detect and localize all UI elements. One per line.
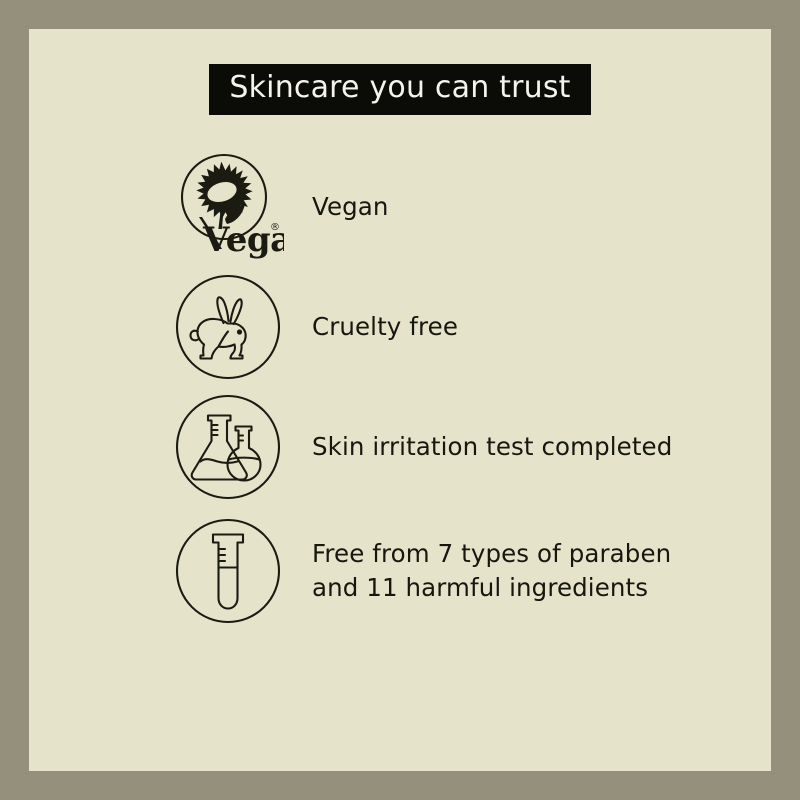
page-title: Skincare you can trust [229, 71, 570, 105]
claim-label: Cruelty free [312, 310, 458, 344]
claim-row: Free from 7 types of paraben and 11 harm… [29, 508, 771, 634]
claim-row: Cruelty free [29, 268, 771, 386]
rabbit-icon [172, 271, 284, 383]
claim-row: Skin irritation test completed [29, 386, 771, 508]
content-panel: Skincare you can trust [29, 29, 771, 771]
poster-frame: Skincare you can trust [0, 0, 800, 800]
claims-list: Vegan ® Vegan [29, 146, 771, 634]
claim-label: Vegan [312, 190, 389, 224]
flasks-icon [172, 391, 284, 503]
claim-row: Vegan ® Vegan [29, 146, 771, 268]
claim-label: Free from 7 types of paraben and 11 harm… [312, 537, 671, 605]
vegan-society-logo-icon: Vegan ® [172, 151, 284, 263]
header-banner-wrapper: Skincare you can trust [29, 64, 771, 115]
registered-trademark: ® [270, 222, 280, 233]
header-banner: Skincare you can trust [209, 64, 590, 115]
test-tube-icon [172, 515, 284, 627]
claim-label: Skin irritation test completed [312, 430, 672, 464]
